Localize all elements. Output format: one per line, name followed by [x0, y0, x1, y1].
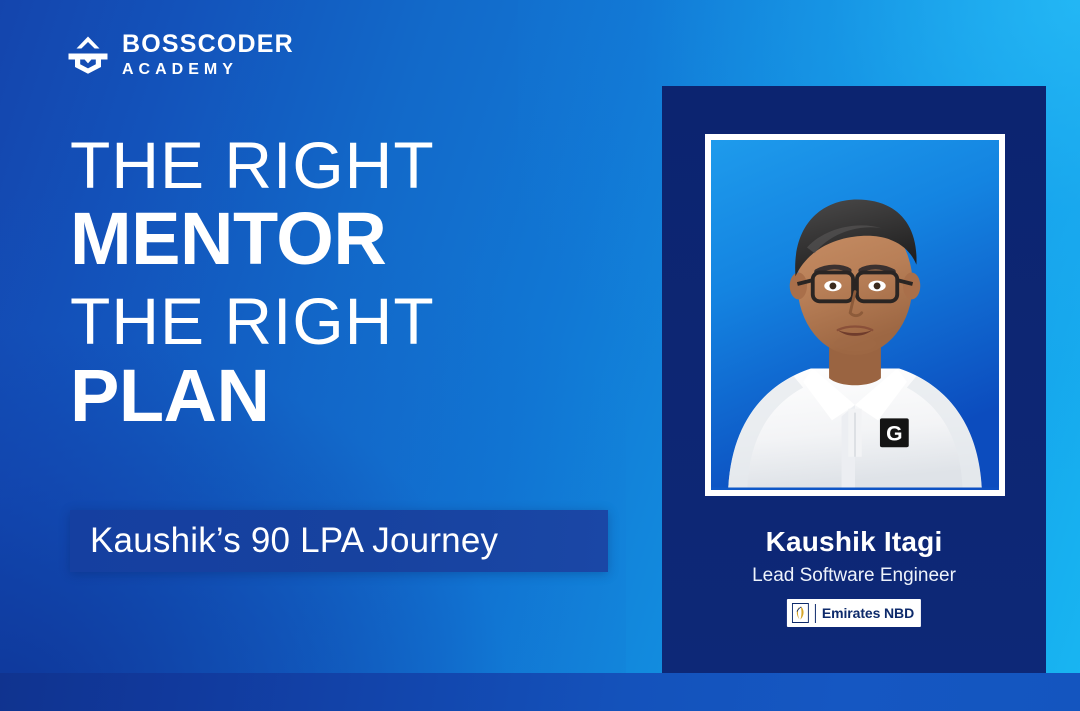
company-name: Emirates NBD [822, 605, 914, 621]
profile-role: Lead Software Engineer [662, 565, 1046, 587]
headline-line-2: MENTOR [70, 203, 630, 274]
headline-line-3: THE RIGHT [70, 290, 630, 353]
portrait-illustration: G [711, 140, 999, 488]
bosscoder-crown-icon [66, 35, 110, 75]
emirates-nbd-emblem-icon [792, 603, 809, 623]
profile-name: Kaushik Itagi [662, 526, 1046, 558]
brand-name-top: BOSSCODER [122, 32, 294, 57]
bottom-strip [0, 673, 1080, 711]
promo-poster: BOSSCODER ACADEMY THE RIGHT MENTOR THE R… [0, 0, 1080, 711]
journey-banner-text: Kaushik’s 90 LPA Journey [70, 521, 498, 561]
company-badge: Emirates NBD [787, 599, 921, 627]
headline-block: THE RIGHT MENTOR THE RIGHT PLAN [70, 134, 630, 431]
badge-divider [815, 604, 816, 623]
profile-photo-frame: G [705, 134, 1005, 496]
journey-banner: Kaushik’s 90 LPA Journey [70, 510, 608, 572]
profile-panel: G Kaushik Itagi Lead Software Engineer E… [662, 86, 1046, 673]
brand-logo[interactable]: BOSSCODER ACADEMY [66, 32, 294, 78]
brand-wordmark: BOSSCODER ACADEMY [122, 32, 294, 78]
brand-name-bottom: ACADEMY [122, 62, 294, 78]
headline-line-1: THE RIGHT [70, 134, 630, 197]
svg-text:G: G [886, 422, 902, 445]
profile-photo: G [711, 140, 999, 490]
headline-line-4: PLAN [70, 360, 630, 431]
